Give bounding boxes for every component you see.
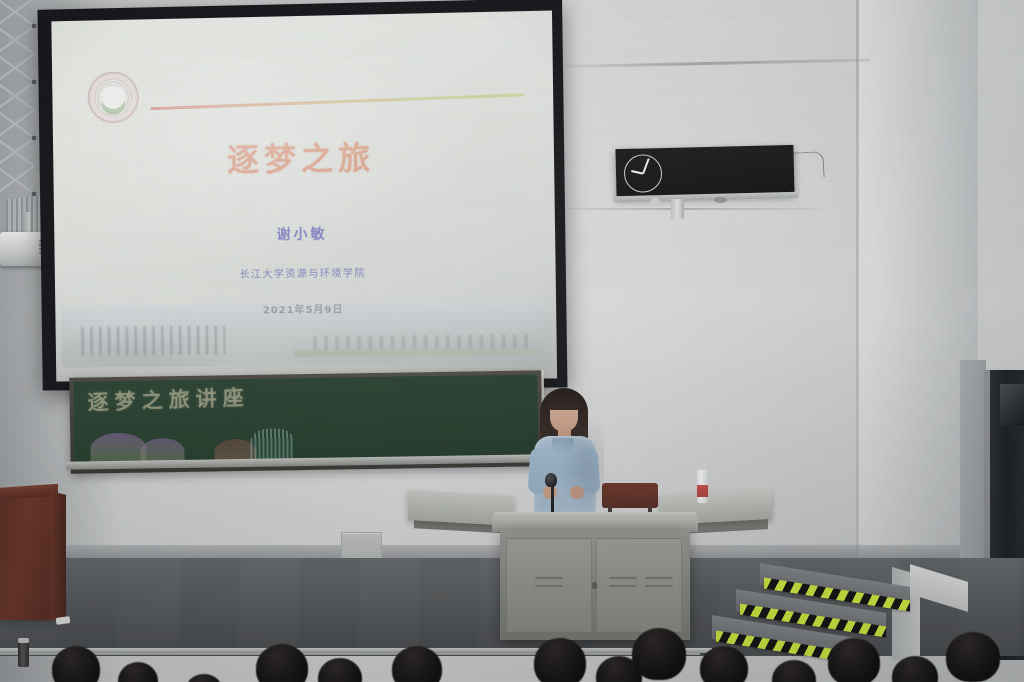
console-vent-slot xyxy=(645,585,673,588)
console-vent-slot xyxy=(609,577,637,580)
teaching-console xyxy=(500,530,690,640)
slide-footer-panorama xyxy=(61,302,551,368)
blackboard-chalk-text: 逐梦之旅讲座 xyxy=(87,381,250,416)
audience-head xyxy=(892,656,938,682)
audience-head xyxy=(632,628,686,680)
console-vent-slot xyxy=(645,577,673,580)
slide-author: 谢小敏 xyxy=(54,221,555,247)
panorama-grass xyxy=(294,348,541,357)
slide-accent-rule xyxy=(151,93,524,110)
university-emblem-icon xyxy=(87,71,139,124)
panel-fixture-left xyxy=(650,198,660,205)
water-bottle xyxy=(697,469,708,503)
console-lock-icon[interactable] xyxy=(592,582,597,589)
audience-head xyxy=(186,674,222,682)
wooden-podium xyxy=(0,495,54,620)
audience-head xyxy=(52,646,100,682)
bottle-cap xyxy=(700,464,706,470)
audience-head xyxy=(700,646,748,682)
panel-fixture-right xyxy=(714,197,727,203)
console-vent-slot xyxy=(609,585,637,588)
console-door-right[interactable] xyxy=(596,538,682,632)
wall-clock-icon xyxy=(624,154,663,193)
panel-mount-bracket xyxy=(671,199,684,219)
wall-pillar-edge xyxy=(856,0,859,640)
microphone-icon xyxy=(545,473,557,487)
audience-head xyxy=(946,632,1000,682)
slide-title: 逐梦之旅 xyxy=(53,130,554,184)
console-door-left[interactable] xyxy=(506,538,592,632)
audience-head xyxy=(318,658,362,682)
console-vent-slot xyxy=(535,577,563,580)
panel-cables xyxy=(789,151,824,179)
audience-head xyxy=(392,646,442,682)
panorama-skyline xyxy=(81,326,226,355)
audience-head xyxy=(772,660,816,682)
audience-head xyxy=(118,662,158,682)
presentation-slide: 逐梦之旅 谢小敏 长江大学资源与环境学院 2021年5月9日 xyxy=(51,11,557,382)
audience-head xyxy=(828,638,880,682)
door-panel-detail xyxy=(1000,384,1024,426)
audience-head xyxy=(256,644,308,682)
lecture-hall-photo: 逐梦之旅 谢小敏 长江大学资源与环境学院 2021年5月9日 xyxy=(0,0,1024,682)
podium-side xyxy=(50,491,66,622)
bottle-label xyxy=(697,485,708,497)
audience-rows xyxy=(0,628,1024,682)
audience-head xyxy=(534,638,586,682)
wall-display-panel xyxy=(615,145,794,198)
projection-screen: 逐梦之旅 谢小敏 长江大学资源与环境学院 2021年5月9日 xyxy=(37,0,567,390)
screen-surface: 逐梦之旅 谢小敏 长江大学资源与环境学院 2021年5月9日 xyxy=(51,11,557,382)
chair xyxy=(602,483,658,508)
slide-affiliation: 长江大学资源与环境学院 xyxy=(55,262,556,282)
console-vent-slot xyxy=(535,585,563,588)
wall-access-panel xyxy=(341,532,382,560)
clock-hour-hand xyxy=(631,170,643,175)
